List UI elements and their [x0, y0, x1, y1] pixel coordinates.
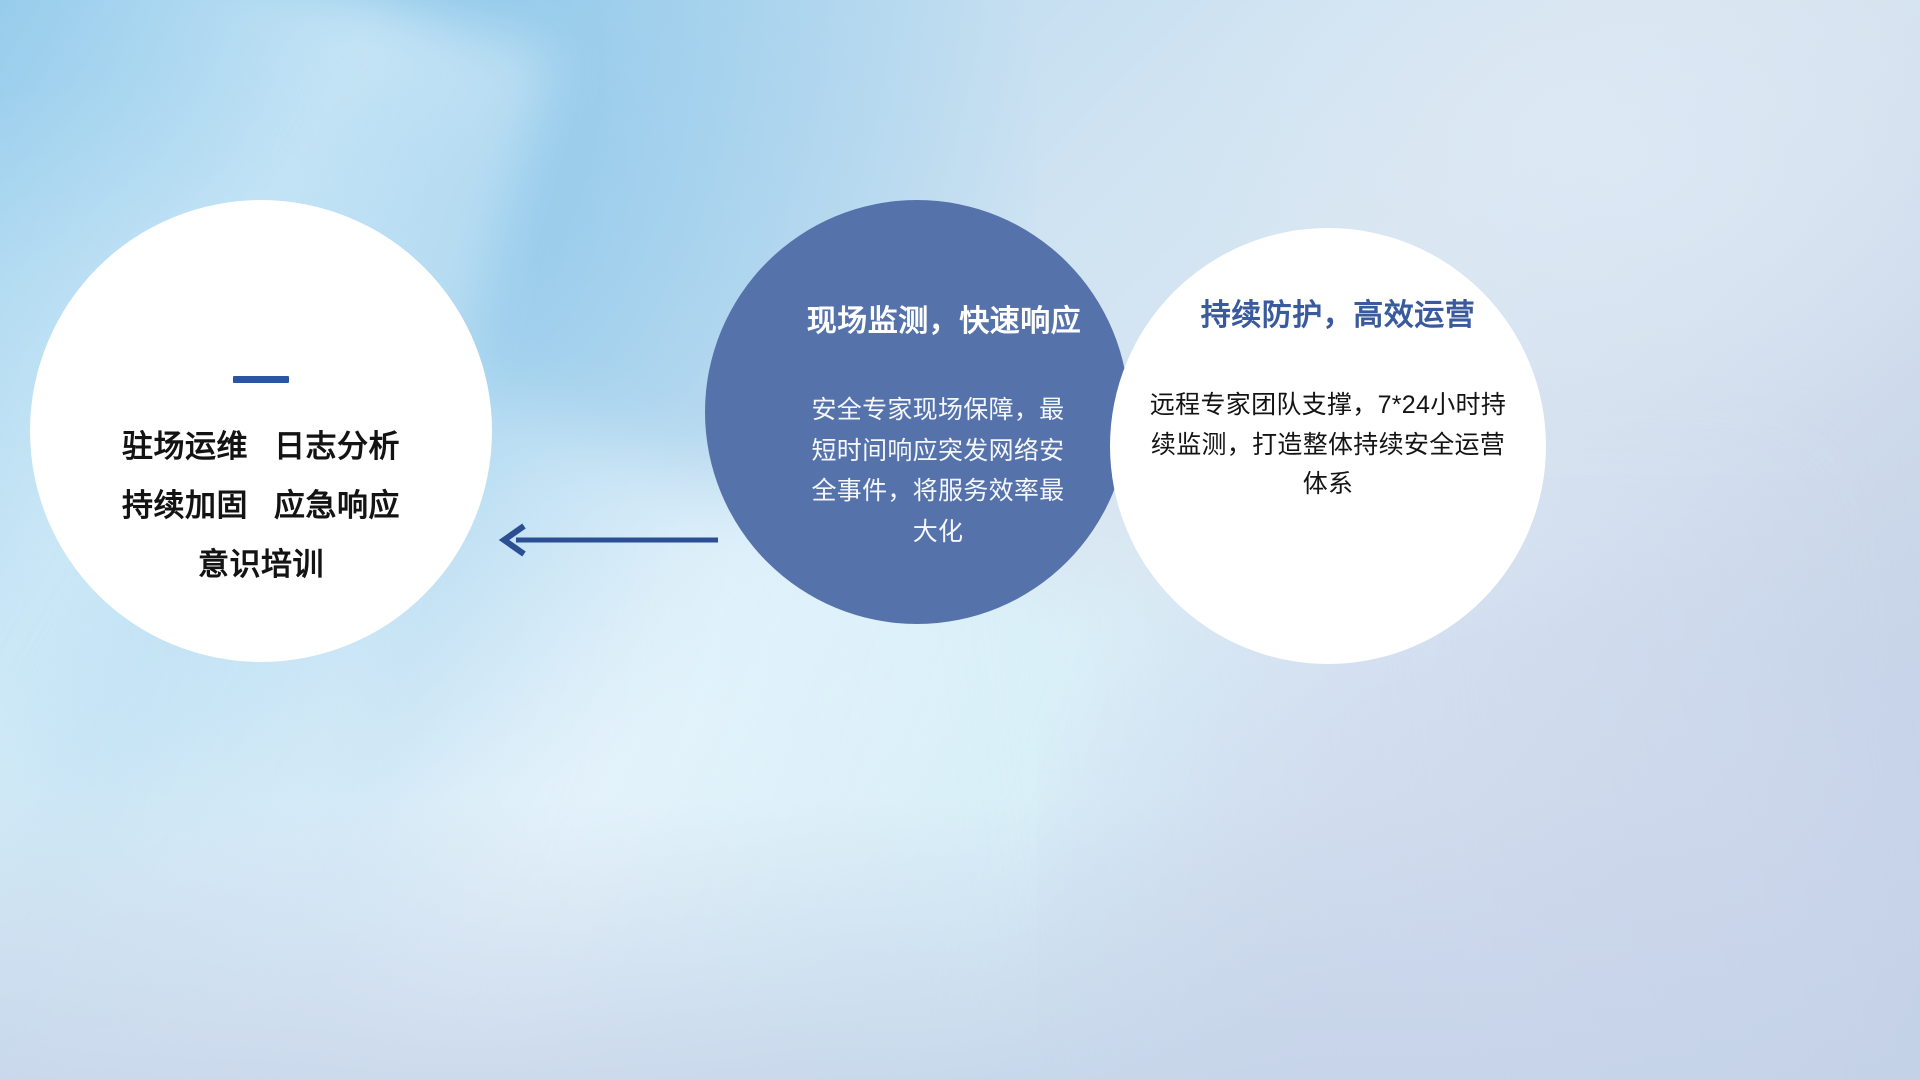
middle-circle-heading: 现场监测，快速响应 [753, 296, 1082, 340]
keyword-chixu-jiagu: 持续加固 [122, 488, 248, 523]
right-circle-content: 持续防护，高效运营 远程专家团队支撑，7*24小时持续监测，打造整体持续安全运营… [1110, 228, 1546, 664]
left-circle-keyword-row-3: 意识培训 [122, 549, 400, 580]
flow-arrow [490, 515, 720, 565]
keyword-rizhi-fenxi: 日志分析 [274, 429, 400, 464]
left-circle-divider [233, 376, 289, 383]
keyword-yingji-xiangying: 应急响应 [274, 488, 400, 523]
right-circle-body-text: 远程专家团队支撑，7*24小时持续监测，打造整体持续安全运营体系 [1139, 386, 1517, 505]
middle-circle-content: 现场监测，快速响应 安全专家现场保障，最短时间响应突发网络安全事件，将服务效率最… [705, 200, 1129, 624]
background-bottom-fade [0, 799, 1920, 1080]
left-circle-keyword-row-2: 持续加固应急响应 [122, 490, 400, 521]
keyword-zhuchang-yunwei: 驻场运维 [122, 429, 248, 464]
left-circle-keyword-row-1: 驻场运维日志分析 [122, 431, 400, 462]
left-circle-content: 驻场运维日志分析 持续加固应急响应 意识培训 [30, 200, 492, 662]
right-circle-heading: 持续防护，高效运营 [1181, 290, 1476, 334]
keyword-yishi-peixun: 意识培训 [198, 547, 324, 582]
left-circle-keyword-list: 驻场运维日志分析 持续加固应急响应 意识培训 [122, 431, 400, 580]
flow-arrow-icon [490, 515, 720, 565]
middle-circle-body-text: 安全专家现场保障，最短时间响应突发网络安全事件，将服务效率最大化 [767, 390, 1067, 552]
